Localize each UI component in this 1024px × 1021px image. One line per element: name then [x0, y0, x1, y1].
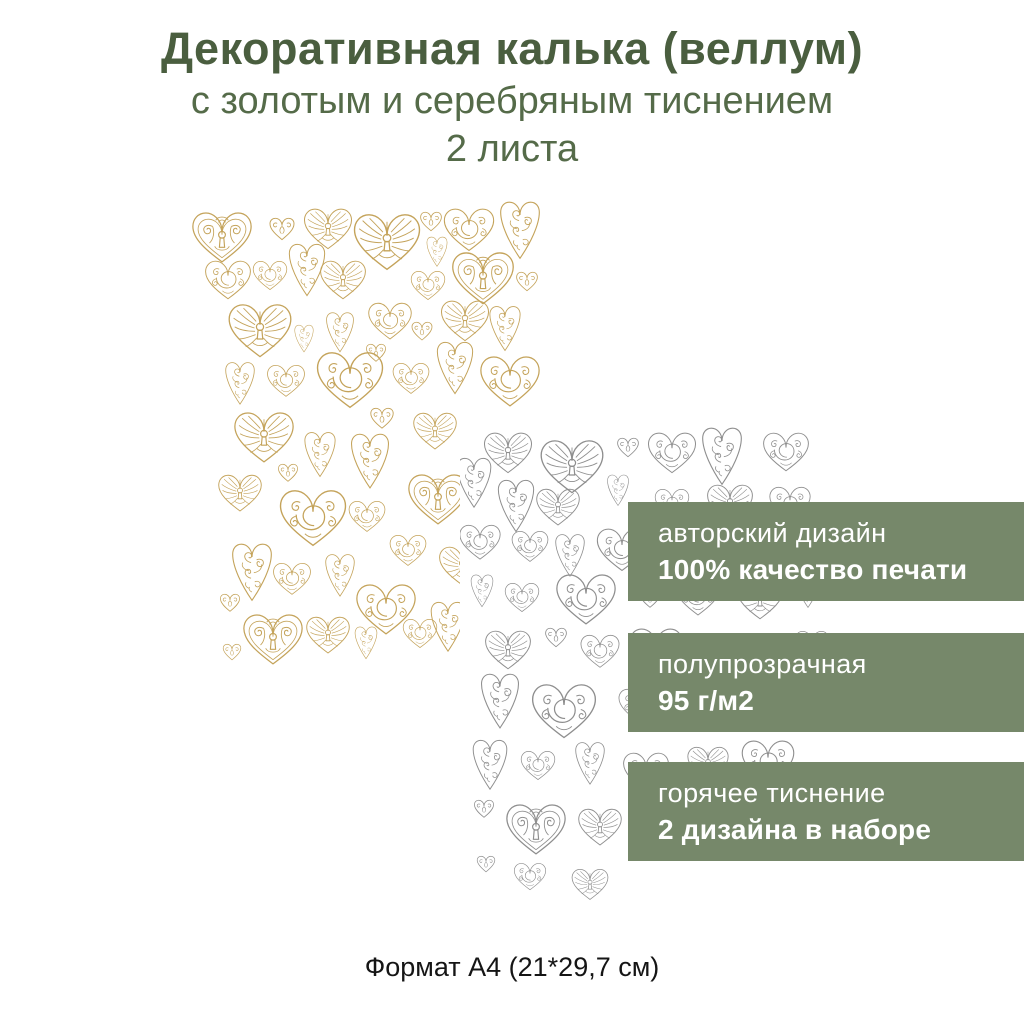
feature-badge-foil: горячее тиснение 2 дизайна в наборе: [628, 762, 1024, 861]
feature-2-bold-label: 95 г/м2: [658, 683, 1024, 720]
page-title: Декоративная калька (веллум): [0, 22, 1024, 75]
feature-3-light-label: горячее тиснение: [658, 776, 1024, 812]
page-subtitle-sheets: 2 листа: [0, 126, 1024, 172]
feature-2-light-label: полупрозрачная: [658, 647, 1024, 683]
headline-block: Декоративная калька (веллум) с золотым и…: [0, 22, 1024, 173]
feature-badge-design: авторский дизайн 100% качество печати: [628, 502, 1024, 601]
page-subtitle: с золотым и серебряным тиснением: [0, 77, 1024, 126]
product-infographic: Декоративная калька (веллум) с золотым и…: [0, 0, 1024, 1021]
feature-3-bold-label: 2 дизайна в наборе: [658, 812, 1024, 849]
feature-1-bold-label: 100% качество печати: [658, 552, 1024, 589]
format-caption: Формат A4 (21*29,7 см): [0, 952, 1024, 983]
feature-1-light-label: авторский дизайн: [658, 516, 1024, 552]
feature-badge-density: полупрозрачная 95 г/м2: [628, 633, 1024, 732]
